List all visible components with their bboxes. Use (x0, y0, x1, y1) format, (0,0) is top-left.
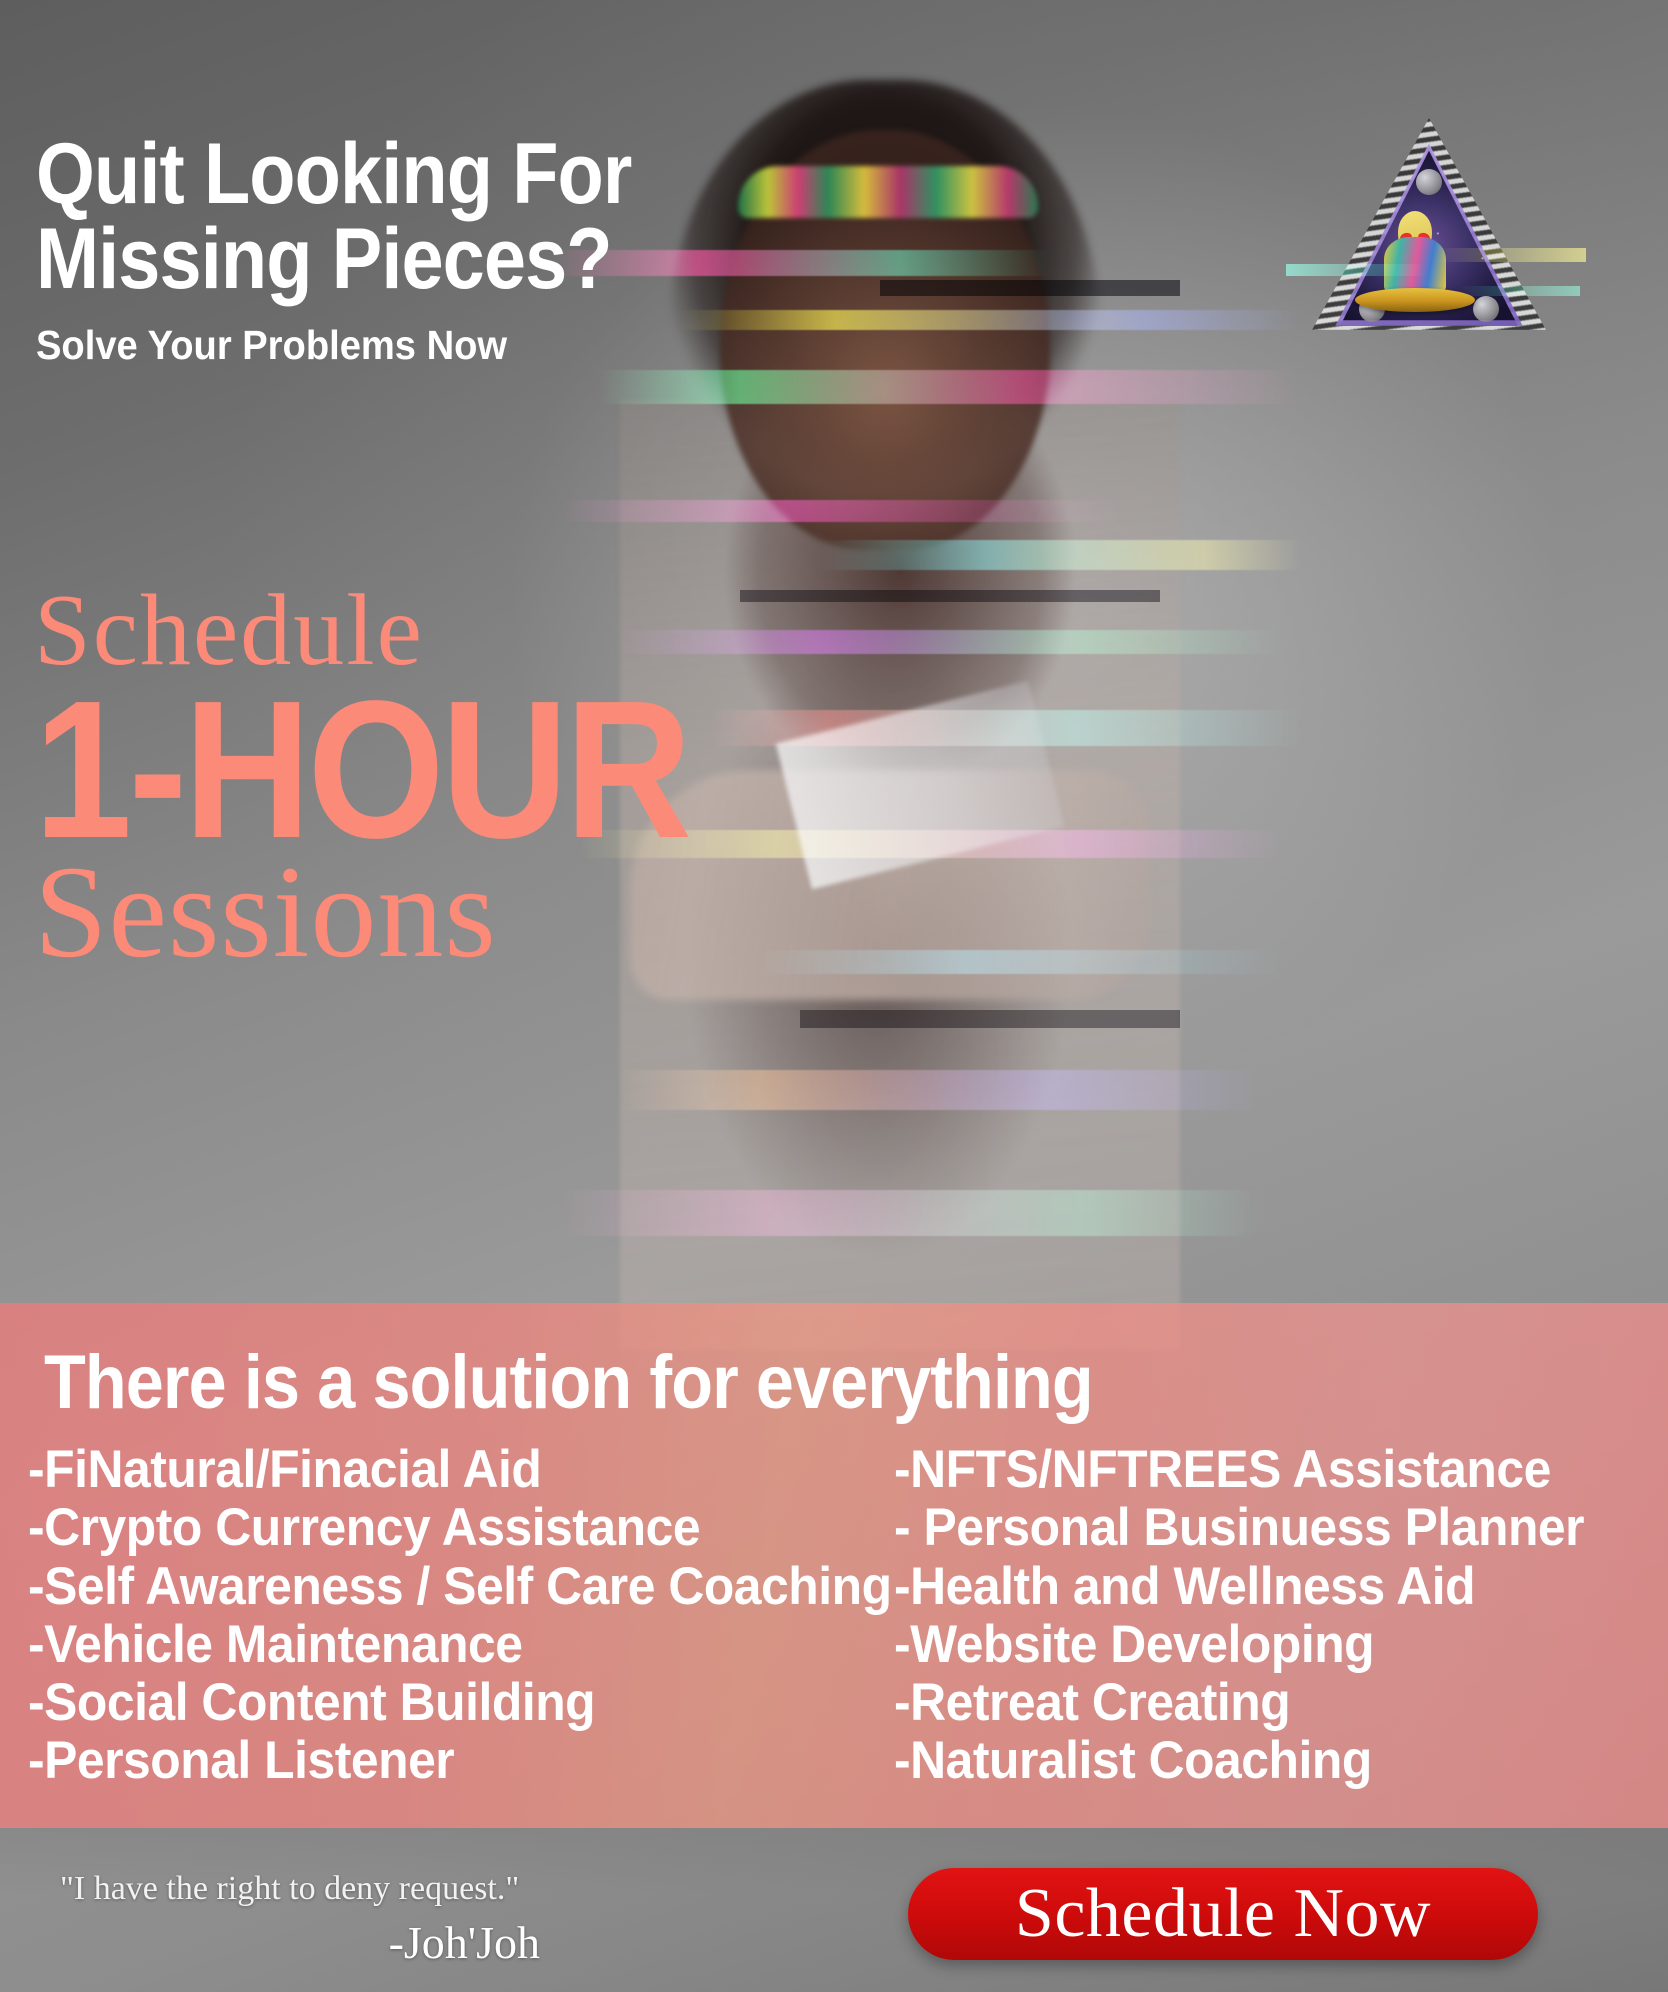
glitch-streak-dark (800, 1010, 1180, 1028)
glitch-streak (710, 710, 1300, 746)
service-item: -Naturalist Coaching (894, 1732, 1584, 1790)
logo-glitch-streak (1286, 264, 1426, 276)
disclaimer-quote-text: "I have the right to deny request." (60, 1870, 680, 1908)
headline-line-2: Missing Pieces? (36, 217, 705, 302)
flyer-poster: Quit Looking For Missing Pieces? Solve Y… (0, 0, 1668, 1992)
glitch-streak (620, 1070, 1260, 1110)
headline-line-1: Quit Looking For (36, 132, 705, 217)
offer-block: Schedule 1-HOUR Sessions (34, 580, 794, 975)
logo-orb-icon (1473, 296, 1499, 322)
glitch-streak (560, 1190, 1260, 1236)
disclaimer-quote-attribution: -Joh'Joh (60, 1916, 680, 1969)
logo-orb-icon (1416, 169, 1442, 195)
services-right-column: -NFTS/NFTREES Assistance - Personal Busi… (828, 1441, 1628, 1791)
services-left-column: -FiNatural/Finacial Aid -Crypto Currency… (28, 1441, 828, 1791)
service-item: -Self Awareness / Self Care Coaching (28, 1558, 780, 1616)
service-item: -Vehicle Maintenance (28, 1616, 780, 1674)
services-columns: -FiNatural/Finacial Aid -Crypto Currency… (28, 1441, 1628, 1791)
services-panel: There is a solution for everything -FiNa… (0, 1303, 1668, 1828)
alien-triangle-logo (1312, 118, 1546, 330)
disclaimer-quote-block: "I have the right to deny request." -Joh… (60, 1870, 680, 1969)
service-item: -Health and Wellness Aid (894, 1558, 1584, 1616)
service-item: -Retreat Creating (894, 1674, 1584, 1732)
service-item: -FiNatural/Finacial Aid (28, 1441, 780, 1499)
glitch-streak (820, 540, 1300, 570)
glitch-streak (760, 950, 1280, 974)
glitch-streak (560, 500, 1120, 522)
service-item: - Personal Businuess Planner (894, 1499, 1584, 1557)
service-item: -Website Developing (894, 1616, 1584, 1674)
ufo-icon (1355, 288, 1475, 312)
schedule-now-button-label: Schedule Now (1015, 1879, 1431, 1949)
headline-subhead: Solve Your Problems Now (36, 322, 743, 369)
offer-duration-word: 1-HOUR (34, 686, 718, 855)
handheld-prop (776, 681, 1065, 889)
service-item: -Crypto Currency Assistance (28, 1499, 780, 1557)
schedule-now-button[interactable]: Schedule Now (908, 1868, 1538, 1960)
logo-glitch-streak (1460, 286, 1580, 296)
service-item: -Personal Listener (28, 1732, 780, 1790)
service-item: -Social Content Building (28, 1674, 780, 1732)
glitch-streak-dark (880, 280, 1180, 296)
glitch-streak-dark (740, 590, 1160, 602)
logo-glitch-streak (1436, 248, 1586, 262)
headline-block: Quit Looking For Missing Pieces? Solve Y… (36, 132, 796, 369)
service-item: -NFTS/NFTREES Assistance (894, 1441, 1584, 1499)
services-panel-title: There is a solution for everything (44, 1339, 1093, 1426)
glitch-streak (600, 370, 1300, 404)
